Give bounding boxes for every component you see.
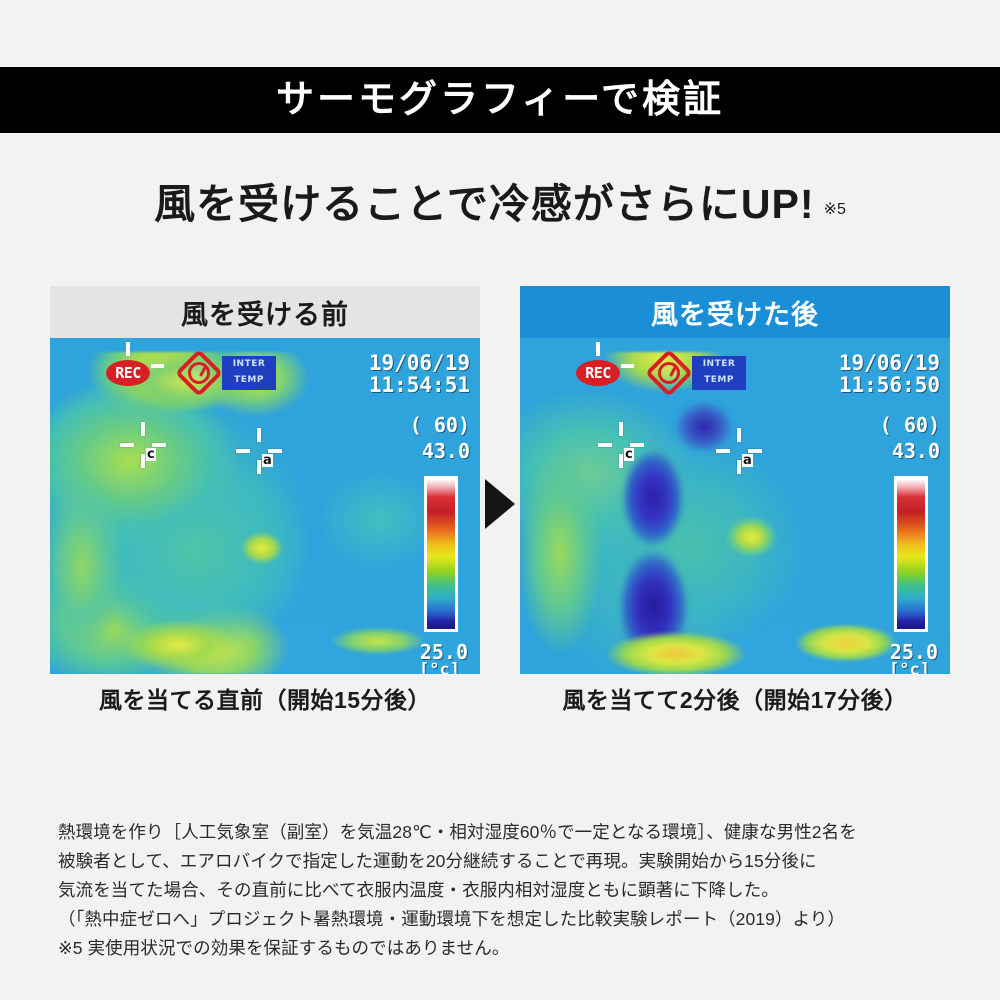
- osd-scale-max: 43.0: [410, 438, 470, 464]
- spot-marker-a-before: a: [236, 428, 282, 474]
- footnote-line-1: 熱環境を作り［人工気象室（副室）を気温28℃・相対湿度60％で一定となる環境］、…: [58, 818, 948, 847]
- footnote-block: 熱環境を作り［人工気象室（副室）を気温28℃・相対湿度60％で一定となる環境］、…: [58, 818, 948, 963]
- inter-temp-badge: INTER TEMP: [692, 356, 746, 390]
- headline-footnote-marker: ※5: [824, 199, 846, 219]
- panel-after: 風を受けた後 REC: [520, 286, 950, 722]
- crosshair-arm-left: [236, 449, 250, 453]
- inter-temp-badge: INTER TEMP: [222, 356, 276, 390]
- crosshair-arm-bottom: [737, 460, 741, 474]
- page-title: サーモグラフィーで検証: [276, 81, 724, 119]
- osd-date: 19/06/19: [369, 352, 470, 374]
- osd-time: 11:56:50: [839, 374, 940, 396]
- temperature-scale-bar-before: [424, 476, 458, 632]
- crosshair-arm-top: [737, 428, 741, 442]
- temp-label: TEMP: [692, 372, 746, 388]
- crosshair-arm-bottom: [257, 460, 261, 474]
- spot-marker-label-c: c: [146, 448, 156, 461]
- osd-tick-mark-icon: [126, 342, 130, 356]
- crosshair-arm-bottom: [619, 454, 623, 468]
- osd-range-value: ( 60): [410, 412, 470, 438]
- panel-after-caption: 風を当てて2分後（開始17分後）: [520, 674, 950, 722]
- rec-indicator-icon: REC: [106, 360, 150, 386]
- osd-range-value: ( 60): [880, 412, 940, 438]
- thermography-comparison: 風を受ける前 REC: [50, 286, 950, 722]
- osd-tick-mark-icon: [596, 342, 600, 356]
- footnote-line-4: （「熱中症ゼロへ」プロジェクト暑熱環境・運動環境下を想定した比較実験レポート（2…: [58, 905, 948, 934]
- osd-date: 19/06/19: [839, 352, 940, 374]
- temp-label: TEMP: [222, 372, 276, 388]
- temperature-gradient: [427, 479, 455, 629]
- temperature-gradient: [897, 479, 925, 629]
- thermal-osd-before: REC INTER TEMP 19/06/19 11:54:51 ( 60): [50, 338, 480, 674]
- osd-dash-icon: [621, 364, 634, 368]
- spot-marker-c-after: c: [598, 422, 644, 468]
- panel-after-label: 風を受けた後: [520, 286, 950, 338]
- crosshair-arm-left: [598, 443, 612, 447]
- osd-scale-max: 43.0: [880, 438, 940, 464]
- osd-time: 11:54:51: [369, 374, 470, 396]
- thermal-image-after: REC INTER TEMP 19/06/19 11:56:50 ( 60): [520, 338, 950, 674]
- headline-text: 風を受けることで冷感がさらにUP!: [154, 182, 814, 227]
- crosshair-arm-left: [120, 443, 134, 447]
- spot-marker-label-a: a: [742, 454, 753, 467]
- headline-row: 風を受けることで冷感がさらにUP! ※5: [0, 182, 1000, 227]
- spot-marker-c-before: c: [120, 422, 166, 468]
- stopwatch-icon: [652, 356, 686, 390]
- temperature-scale-bar-after: [894, 476, 928, 632]
- comparison-arrow: [480, 286, 520, 722]
- osd-scale-unit-after: [°c]: [889, 660, 930, 674]
- osd-datetime-before: 19/06/19 11:54:51: [369, 352, 470, 396]
- osd-dash-icon: [151, 364, 164, 368]
- footnote-line-2: 被験者として、エアロバイクで指定した運動を20分継続することで再現。実験開始から…: [58, 847, 948, 876]
- thermal-osd-after: REC INTER TEMP 19/06/19 11:56:50 ( 60): [520, 338, 950, 674]
- osd-range-before: ( 60) 43.0: [410, 412, 470, 464]
- osd-scale-unit-before: [°c]: [419, 660, 460, 674]
- osd-datetime-after: 19/06/19 11:56:50: [839, 352, 940, 396]
- crosshair-arm-top: [141, 422, 145, 436]
- crosshair-arm-top: [619, 422, 623, 436]
- footnote-line-3: 気流を当てた場合、その直前に比べて衣服内温度・衣服内相対湿度ともに顕著に下降した…: [58, 876, 948, 905]
- panel-before: 風を受ける前 REC: [50, 286, 480, 722]
- osd-range-after: ( 60) 43.0: [880, 412, 940, 464]
- inter-label: INTER: [692, 356, 746, 372]
- spot-marker-label-a: a: [262, 454, 273, 467]
- header-band: サーモグラフィーで検証: [0, 67, 1000, 133]
- stopwatch-icon: [182, 356, 216, 390]
- crosshair-arm-bottom: [141, 454, 145, 468]
- thermal-image-before: REC INTER TEMP 19/06/19 11:54:51 ( 60): [50, 338, 480, 674]
- play-triangle-right-icon: [485, 479, 515, 529]
- rec-indicator-icon: REC: [576, 360, 620, 386]
- spot-marker-a-after: a: [716, 428, 762, 474]
- inter-label: INTER: [222, 356, 276, 372]
- footnote-line-5: ※5 実使用状況での効果を保証するものではありません。: [58, 934, 948, 963]
- panel-before-label: 風を受ける前: [50, 286, 480, 338]
- crosshair-arm-top: [257, 428, 261, 442]
- panel-before-caption: 風を当てる直前（開始15分後）: [50, 674, 480, 722]
- spot-marker-label-c: c: [624, 448, 634, 461]
- crosshair-arm-left: [716, 449, 730, 453]
